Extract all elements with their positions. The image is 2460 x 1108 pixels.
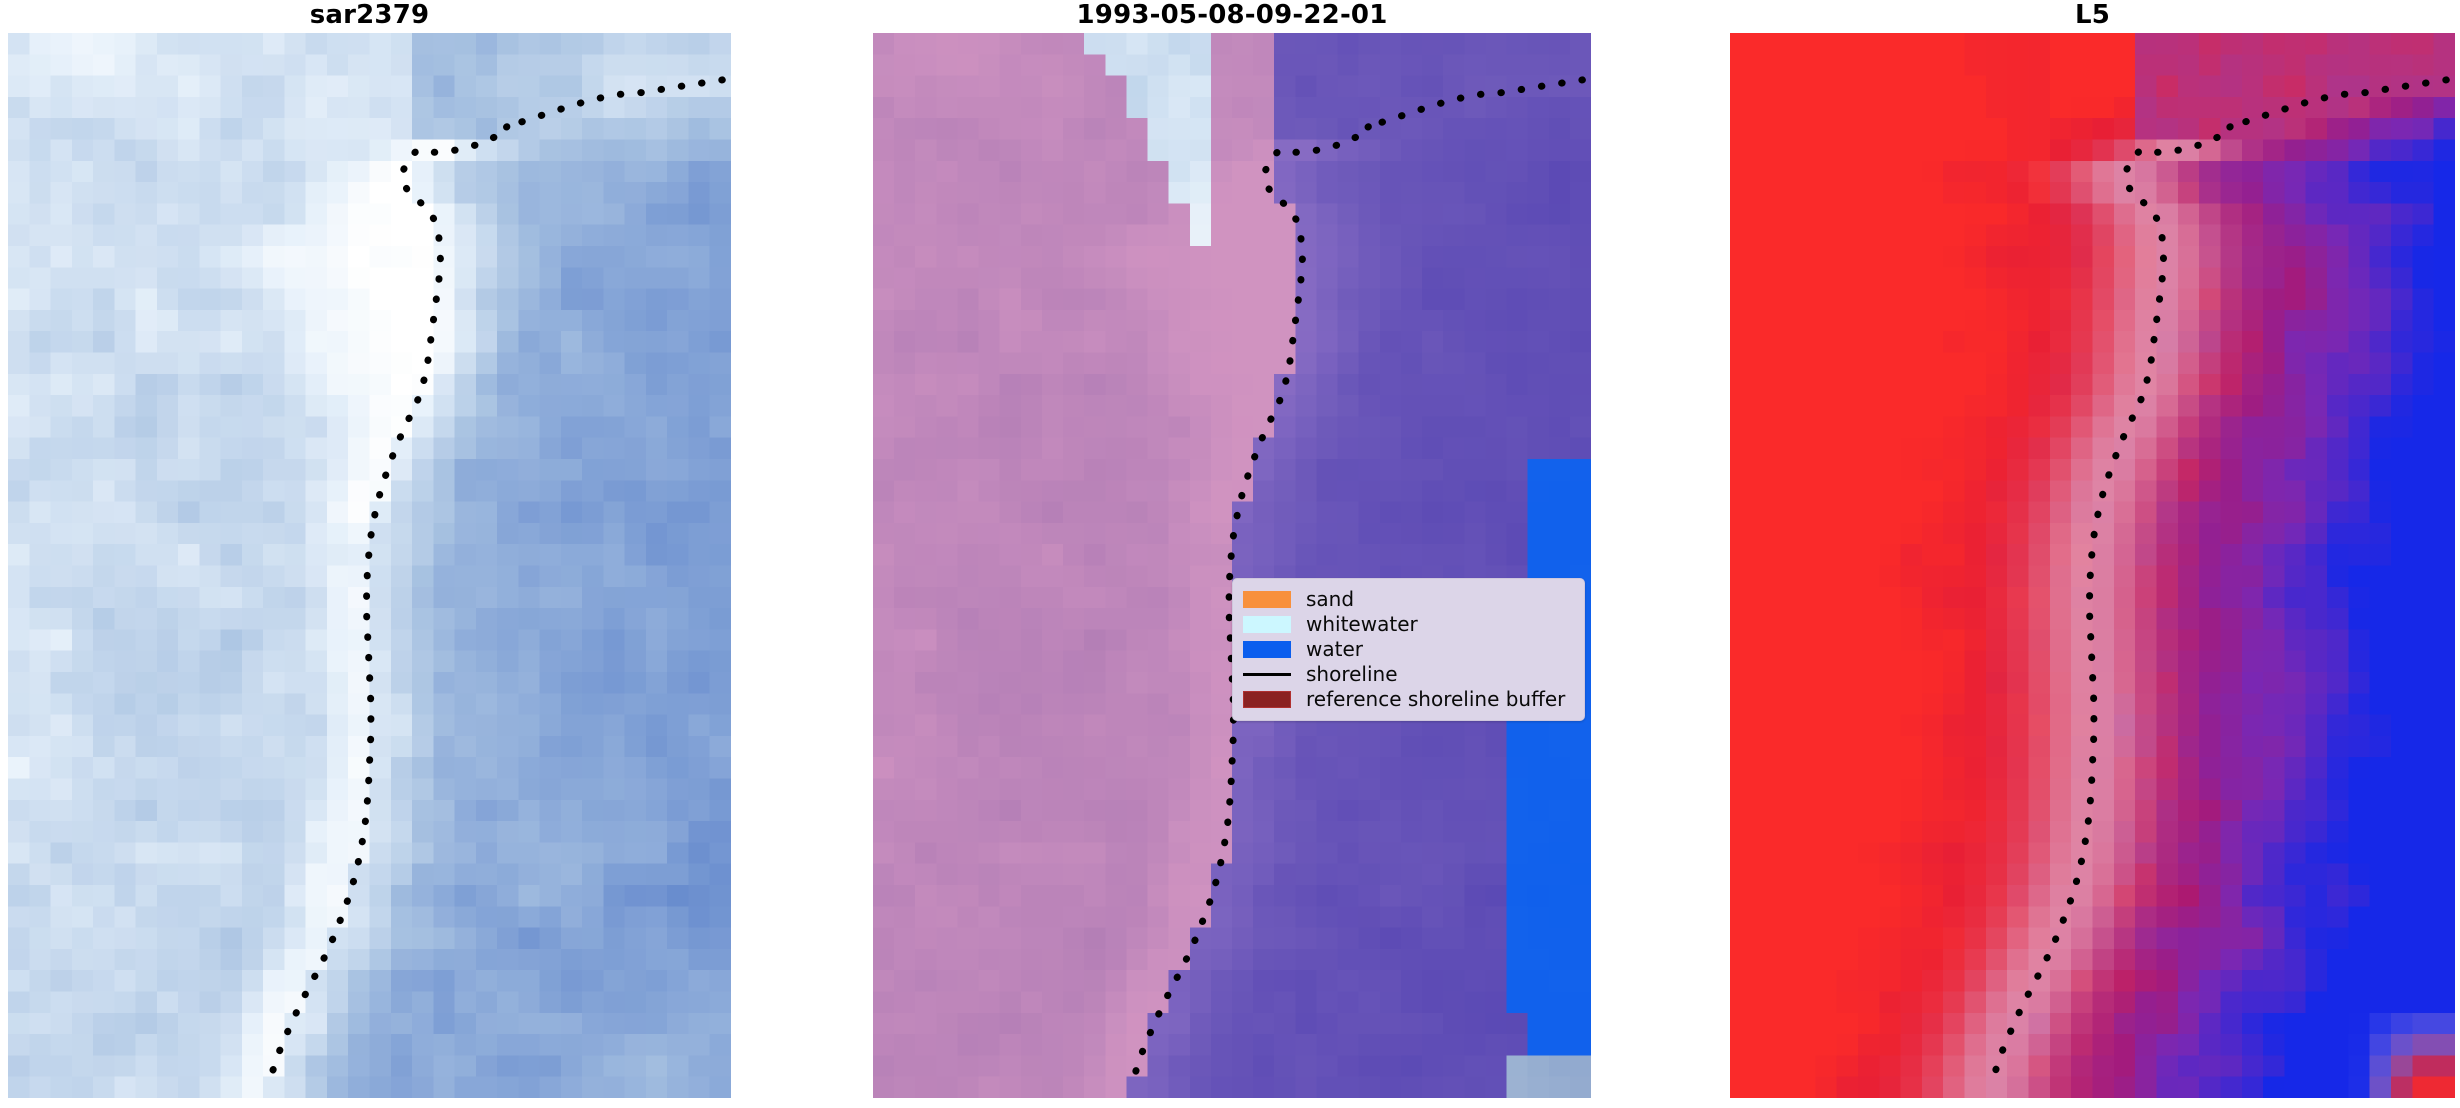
- color-swatch-icon: [1243, 691, 1291, 708]
- panel-l5: L5: [1730, 0, 2455, 1108]
- line-sample-icon: [1243, 673, 1291, 676]
- legend-item-water: water: [1241, 637, 1574, 662]
- legend-label: shoreline: [1306, 662, 1398, 687]
- legend-label: sand: [1306, 587, 1354, 612]
- raster-canvas-classified: [873, 33, 1591, 1098]
- raster-canvas-sar: [8, 33, 731, 1098]
- panel-title-classified: 1993-05-08-09-22-01: [873, 0, 1591, 33]
- raster-classified: [873, 33, 1591, 1098]
- figure-root: sar2379 1993-05-08-09-22-01 L5 sandwhite…: [0, 0, 2460, 1108]
- legend-item-shoreline: shoreline: [1241, 662, 1574, 687]
- panel-classified: 1993-05-08-09-22-01: [873, 0, 1591, 1108]
- panel-title-l5: L5: [1730, 0, 2455, 33]
- raster-l5: [1730, 33, 2455, 1098]
- legend-swatch-icon: [1241, 612, 1293, 637]
- legend-box[interactable]: sandwhitewaterwatershorelinereference sh…: [1232, 578, 1585, 721]
- legend-label: whitewater: [1306, 612, 1418, 637]
- legend-item-reference: reference shoreline buffer: [1241, 687, 1574, 712]
- legend-swatch-icon: [1241, 637, 1293, 662]
- color-swatch-icon: [1243, 591, 1291, 608]
- legend-label: water: [1306, 637, 1363, 662]
- color-swatch-icon: [1243, 641, 1291, 658]
- legend-item-sand: sand: [1241, 587, 1574, 612]
- legend-swatch-icon: [1241, 687, 1293, 712]
- legend-swatch-icon: [1241, 662, 1293, 687]
- legend-swatch-icon: [1241, 587, 1293, 612]
- legend-label: reference shoreline buffer: [1306, 687, 1565, 712]
- raster-canvas-l5: [1730, 33, 2455, 1098]
- panel-title-sar: sar2379: [8, 0, 731, 33]
- legend-item-whitewater: whitewater: [1241, 612, 1574, 637]
- raster-sar: [8, 33, 731, 1098]
- color-swatch-icon: [1243, 616, 1291, 633]
- panel-sar: sar2379: [8, 0, 731, 1108]
